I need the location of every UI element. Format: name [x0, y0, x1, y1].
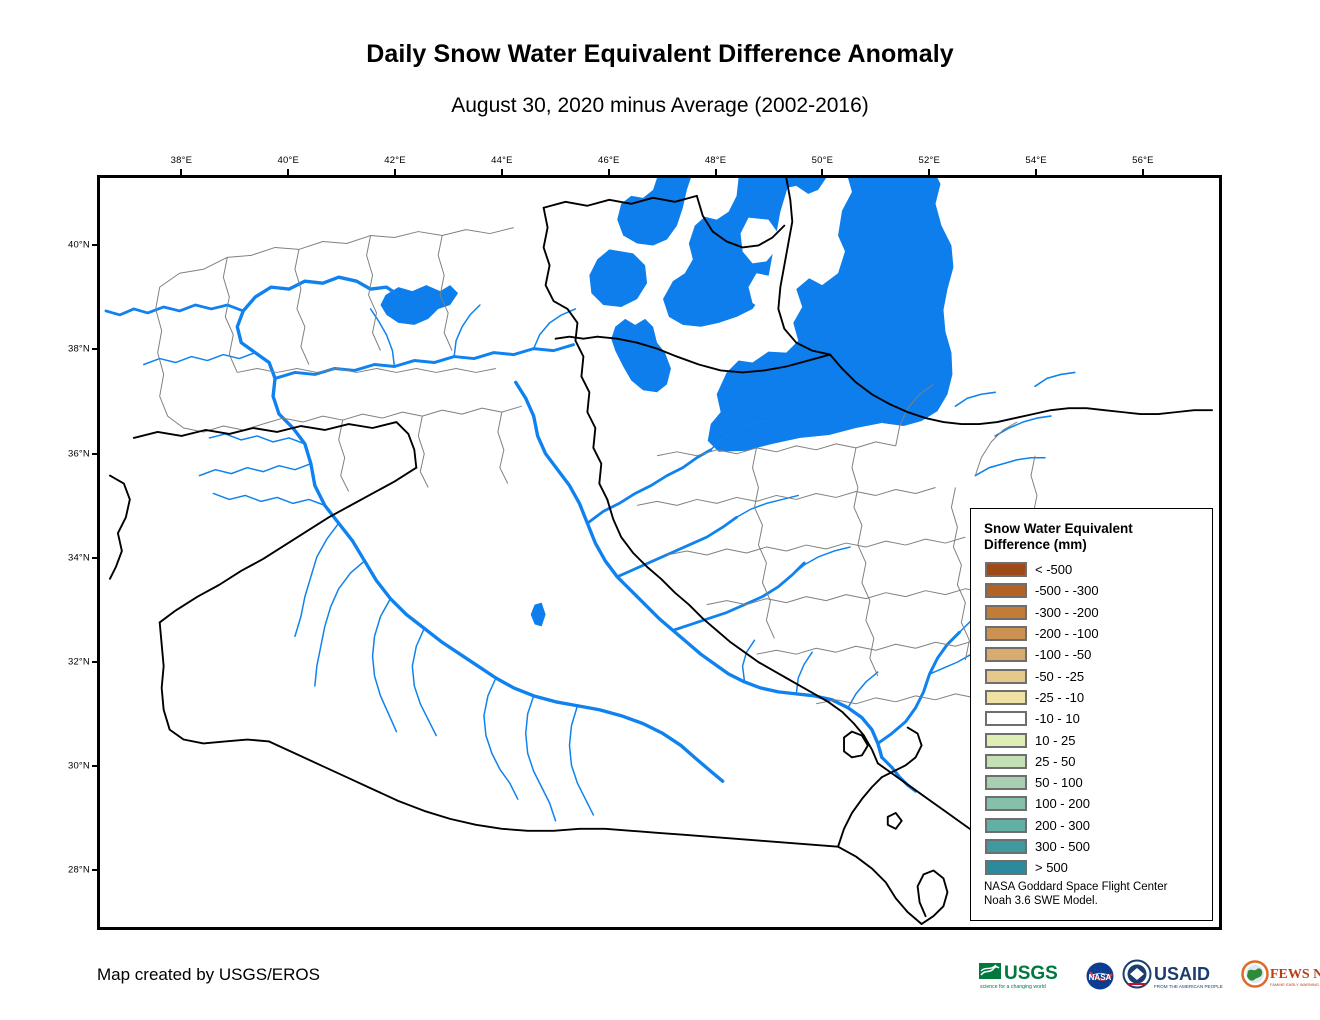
svg-text:USAID: USAID	[1154, 964, 1210, 984]
legend-swatch	[985, 839, 1027, 854]
saudi-kuwait-border	[579, 829, 838, 847]
latitude-label: 32°N	[52, 656, 90, 667]
lake-urmia	[611, 319, 671, 392]
legend-swatch	[985, 605, 1027, 620]
latitude-label: 40°N	[52, 240, 90, 251]
legend-title-line2: Difference (mm)	[984, 537, 1199, 553]
legend-row: > 500	[985, 857, 1205, 878]
longitude-label: 54°E	[1025, 155, 1047, 166]
qatar-peninsula	[918, 870, 948, 924]
svg-text:FROM THE AMERICAN PEOPLE: FROM THE AMERICAN PEOPLE	[1154, 984, 1223, 989]
latitude-label: 28°N	[52, 865, 90, 876]
caspian-sea-northwest-arm	[617, 178, 691, 245]
legend-label: -100 - -50	[1035, 647, 1091, 662]
saudi-iraq-border	[269, 741, 579, 830]
legend-swatch	[985, 669, 1027, 684]
usaid-logo-mark: USAID FROM THE AMERICAN PEOPLE	[1122, 959, 1234, 993]
legend-row: -200 - -100	[985, 623, 1205, 644]
logo-row: USGS science for a changing world NASA U…	[978, 956, 1320, 996]
latitude-label: 30°N	[52, 760, 90, 771]
map-legend: Snow Water Equivalent Difference (mm) < …	[970, 508, 1213, 921]
legend-label: 25 - 50	[1035, 754, 1075, 769]
longitude-label: 56°E	[1132, 155, 1154, 166]
legend-row: -300 - -200	[985, 602, 1205, 623]
turkey-iran-border	[544, 208, 608, 500]
legend-label: > 500	[1035, 860, 1068, 875]
euphrates-tributary-murat	[275, 345, 573, 379]
page-subtitle: August 30, 2020 minus Average (2002-2016…	[0, 94, 1320, 118]
legend-swatch	[985, 647, 1027, 662]
legend-row: 10 - 25	[985, 729, 1205, 750]
legend-items: < -500-500 - -300-300 - -200-200 - -100-…	[985, 559, 1205, 878]
legend-row: 100 - 200	[985, 793, 1205, 814]
legend-row: -500 - -300	[985, 580, 1205, 601]
iraq-iran-border	[607, 499, 878, 763]
legend-label: < -500	[1035, 562, 1072, 577]
legend-label: -10 - 10	[1035, 711, 1080, 726]
longitude-label: 42°E	[384, 155, 406, 166]
legend-label: -50 - -25	[1035, 669, 1084, 684]
nasa-logo-mark: NASA	[1085, 961, 1115, 991]
legend-label: -300 - -200	[1035, 605, 1099, 620]
legend-swatch	[985, 562, 1027, 577]
legend-row: 25 - 50	[985, 751, 1205, 772]
eastern-rivers	[955, 372, 1074, 515]
longitude-label: 46°E	[598, 155, 620, 166]
legend-label: -500 - -300	[1035, 583, 1099, 598]
legend-row: 300 - 500	[985, 836, 1205, 857]
usaid-logo: USAID FROM THE AMERICAN PEOPLE	[1122, 957, 1234, 995]
page-title: Daily Snow Water Equivalent Difference A…	[0, 40, 1320, 69]
svg-text:NASA: NASA	[1089, 973, 1112, 982]
jordan-saudi-border	[160, 622, 269, 743]
usgs-logo: USGS science for a changing world	[978, 957, 1078, 995]
svg-text:USGS: USGS	[1004, 963, 1058, 984]
longitude-label: 48°E	[705, 155, 727, 166]
svg-text:FEWS NET: FEWS NET	[1270, 967, 1320, 982]
legend-credit-line1: NASA Goddard Space Flight Center	[984, 881, 1209, 895]
legend-title-line1: Snow Water Equivalent	[984, 521, 1199, 537]
legend-label: -200 - -100	[1035, 626, 1099, 641]
legend-swatch	[985, 626, 1027, 641]
nasa-logo: NASA	[1085, 957, 1115, 995]
legend-row: 200 - 300	[985, 815, 1205, 836]
lesser-zab-river	[617, 517, 736, 577]
gulf-islands	[888, 813, 902, 829]
legend-row: -50 - -25	[985, 665, 1205, 686]
longitude-label: 44°E	[491, 155, 513, 166]
legend-label: 50 - 100	[1035, 775, 1083, 790]
kuwait-border	[838, 777, 882, 846]
longitude-label: 50°E	[812, 155, 834, 166]
legend-row: 50 - 100	[985, 772, 1205, 793]
lake-tharthar	[531, 603, 546, 627]
legend-swatch	[985, 733, 1027, 748]
syria-iraq-border	[160, 468, 417, 623]
legend-credit-line2: Noah 3.6 SWE Model.	[984, 895, 1209, 909]
usgs-logo-mark: USGS science for a changing world	[978, 959, 1078, 993]
legend-swatch	[985, 690, 1027, 705]
legend-title: Snow Water Equivalent Difference (mm)	[984, 521, 1199, 553]
diyala-river	[673, 563, 804, 630]
svg-text:science for a changing world: science for a changing world	[980, 984, 1046, 990]
legend-label: 100 - 200	[1035, 796, 1090, 811]
legend-swatch	[985, 583, 1027, 598]
svg-text:FAMINE EARLY WARNING SYSTEMS N: FAMINE EARLY WARNING SYSTEMS NETWORK	[1270, 982, 1320, 987]
legend-label: 200 - 300	[1035, 818, 1090, 833]
fewsnet-logo: FEWS NET FAMINE EARLY WARNING SYSTEMS NE…	[1241, 957, 1320, 995]
legend-swatch	[985, 754, 1027, 769]
legend-label: 10 - 25	[1035, 733, 1075, 748]
legend-swatch	[985, 711, 1027, 726]
euphrates-tributary-north	[106, 305, 243, 315]
legend-row: -25 - -10	[985, 687, 1205, 708]
iran-turkmenistan-border	[556, 337, 598, 339]
fewsnet-logo-mark: FEWS NET FAMINE EARLY WARNING SYSTEMS NE…	[1241, 959, 1320, 993]
caspian-sea-layer	[589, 178, 953, 452]
caspian-sea-southwest-bay	[589, 249, 647, 307]
latitude-label: 38°N	[52, 344, 90, 355]
latitude-label: 36°N	[52, 448, 90, 459]
longitude-label: 40°E	[277, 155, 299, 166]
map-attribution: Map created by USGS/EROS	[97, 965, 320, 985]
legend-swatch	[985, 796, 1027, 811]
legend-row: -100 - -50	[985, 644, 1205, 665]
latitude-label: 34°N	[52, 552, 90, 563]
turkey-syria-border	[134, 422, 416, 468]
legend-row: -10 - 10	[985, 708, 1205, 729]
legend-credit: NASA Goddard Space Flight Center Noah 3.…	[984, 881, 1209, 908]
karun-river	[878, 632, 960, 743]
legend-swatch	[985, 775, 1027, 790]
persian-gulf-arabian-coast	[838, 847, 922, 924]
longitude-label: 52°E	[918, 155, 940, 166]
legend-row: < -500	[985, 559, 1205, 580]
legend-label: -25 - -10	[1035, 690, 1084, 705]
greater-zab-river	[587, 450, 710, 523]
legend-label: 300 - 500	[1035, 839, 1090, 854]
mediterranean-coast	[110, 476, 130, 579]
legend-swatch	[985, 818, 1027, 833]
legend-swatch	[985, 860, 1027, 875]
longitude-label: 38°E	[171, 155, 193, 166]
